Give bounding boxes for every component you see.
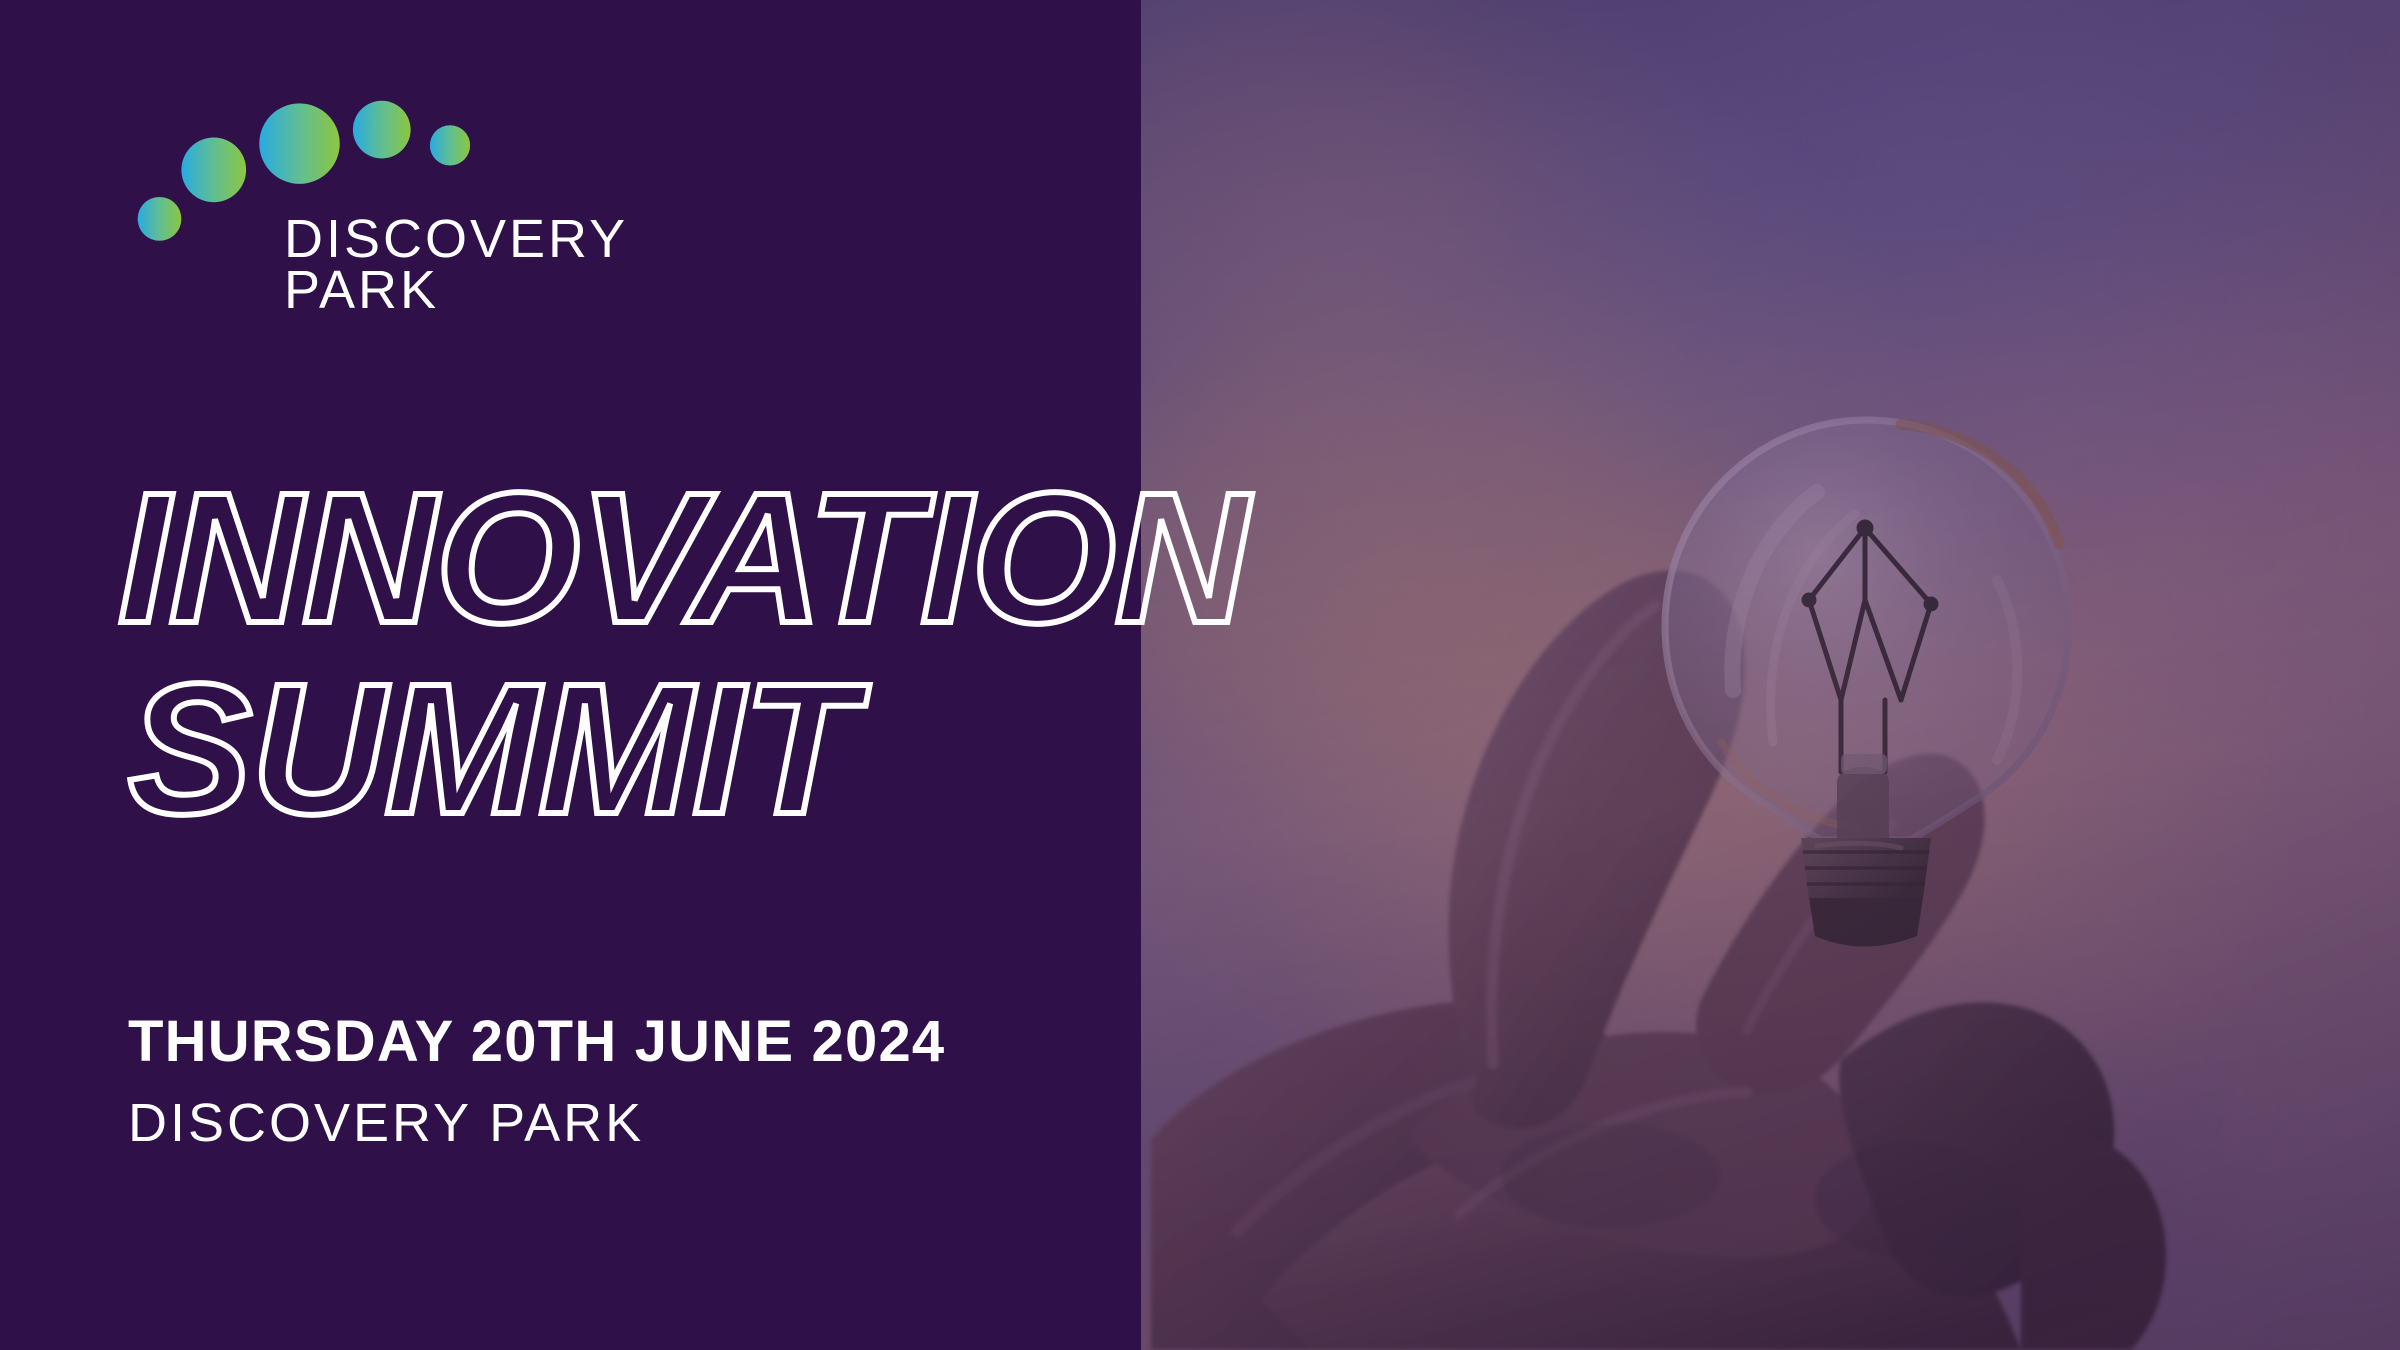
event-date: THURSDAY 20TH JUNE 2024 xyxy=(128,1010,945,1075)
event-venue: DISCOVERY PARK xyxy=(128,1091,945,1156)
logo-dot-5 xyxy=(430,125,470,165)
discovery-park-logo[interactable]: DISCOVERY PARK xyxy=(128,96,668,326)
logo-wordmark: DISCOVERY PARK xyxy=(284,214,628,317)
headline-line-1: INNOVATION xyxy=(118,470,1248,649)
hand-holding-lightbulb-image xyxy=(1141,0,2400,1350)
event-details: THURSDAY 20TH JUNE 2024 DISCOVERY PARK xyxy=(128,1010,945,1156)
logo-dot-1 xyxy=(138,197,182,241)
page-title: INNOVATION SUMMIT xyxy=(118,470,1248,839)
logo-dot-3 xyxy=(259,103,340,184)
event-promo-banner: DISCOVERY PARK INNOVATION SUMMIT THURSDA… xyxy=(0,0,2400,1350)
hero-photo xyxy=(1141,0,2400,1350)
logo-dot-2 xyxy=(181,138,246,203)
headline-line-2: SUMMIT xyxy=(128,661,1248,840)
logo-dot-4 xyxy=(353,101,411,159)
